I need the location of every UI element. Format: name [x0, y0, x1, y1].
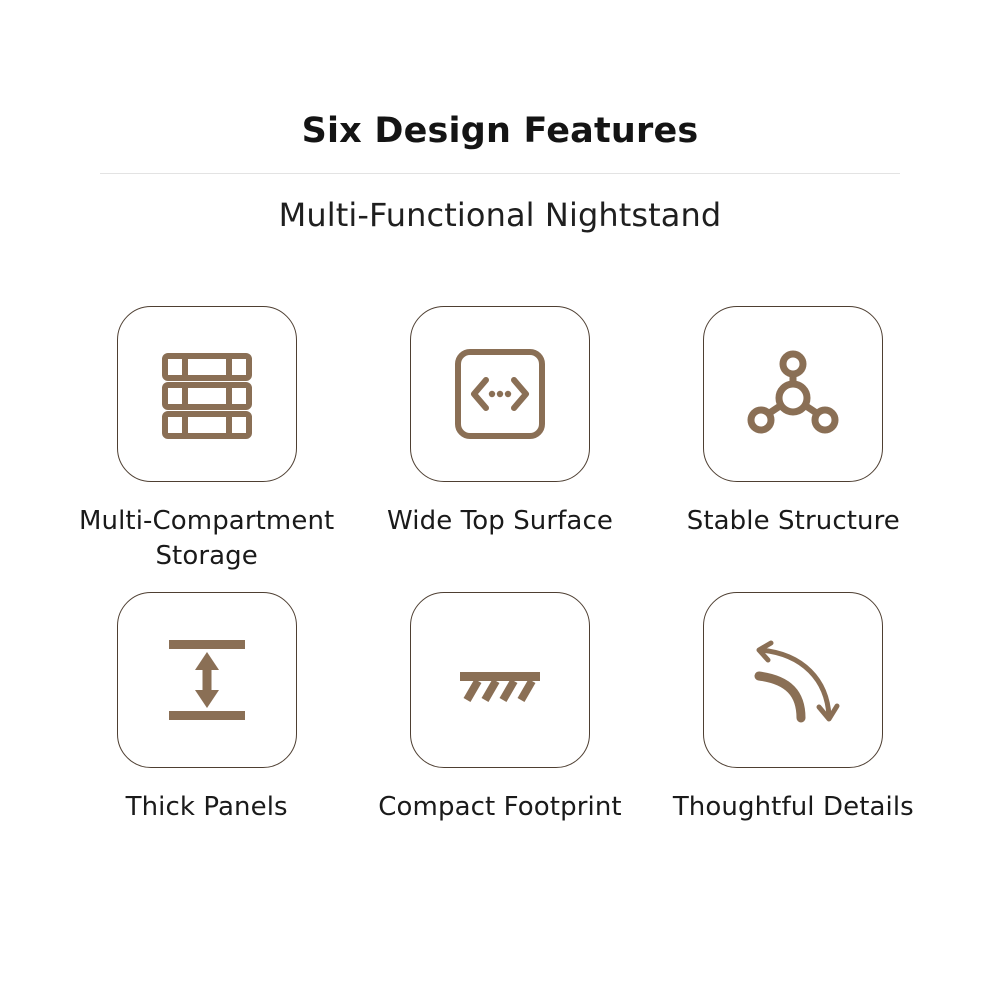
- feature-label: Compact Footprint: [378, 790, 621, 825]
- vertical-thickness-arrow-icon: [155, 628, 259, 732]
- feature-label: Multi-Compartment Storage: [62, 504, 352, 574]
- feature-label: Stable Structure: [687, 504, 900, 539]
- feature-icon-tile[interactable]: [410, 306, 590, 482]
- feature-icon-tile[interactable]: [703, 306, 883, 482]
- feature-icon-tile[interactable]: [410, 592, 590, 768]
- feature-label: Wide Top Surface: [387, 504, 613, 539]
- feature-item-wide-top-surface[interactable]: Wide Top Surface: [353, 306, 646, 574]
- hatched-ground-line-icon: [448, 628, 552, 732]
- page-title: Six Design Features: [302, 112, 699, 151]
- feature-item-multi-compartment-storage[interactable]: Multi-Compartment Storage: [60, 306, 353, 574]
- page-header: Six Design Features Multi-Functional Nig…: [0, 0, 1000, 234]
- width-arrows-icon: [448, 342, 552, 446]
- header-divider: [100, 173, 900, 174]
- feature-label: Thoughtful Details: [673, 790, 914, 825]
- feature-item-compact-footprint[interactable]: Compact Footprint: [353, 592, 646, 825]
- feature-highlight-page: Six Design Features Multi-Functional Nig…: [0, 0, 1000, 1000]
- feature-icon-tile[interactable]: [117, 592, 297, 768]
- molecule-nodes-icon: [741, 342, 845, 446]
- feature-item-thick-panels[interactable]: Thick Panels: [60, 592, 353, 825]
- feature-icon-tile[interactable]: [703, 592, 883, 768]
- curved-double-arrow-icon: [741, 628, 845, 732]
- features-grid: Multi-Compartment Storage Wide Top Surfa…: [60, 306, 940, 825]
- stacked-drawers-icon: [155, 342, 259, 446]
- page-subtitle: Multi-Functional Nightstand: [279, 196, 722, 234]
- feature-icon-tile[interactable]: [117, 306, 297, 482]
- feature-item-thoughtful-details[interactable]: Thoughtful Details: [647, 592, 940, 825]
- feature-item-stable-structure[interactable]: Stable Structure: [647, 306, 940, 574]
- feature-label: Thick Panels: [126, 790, 288, 825]
